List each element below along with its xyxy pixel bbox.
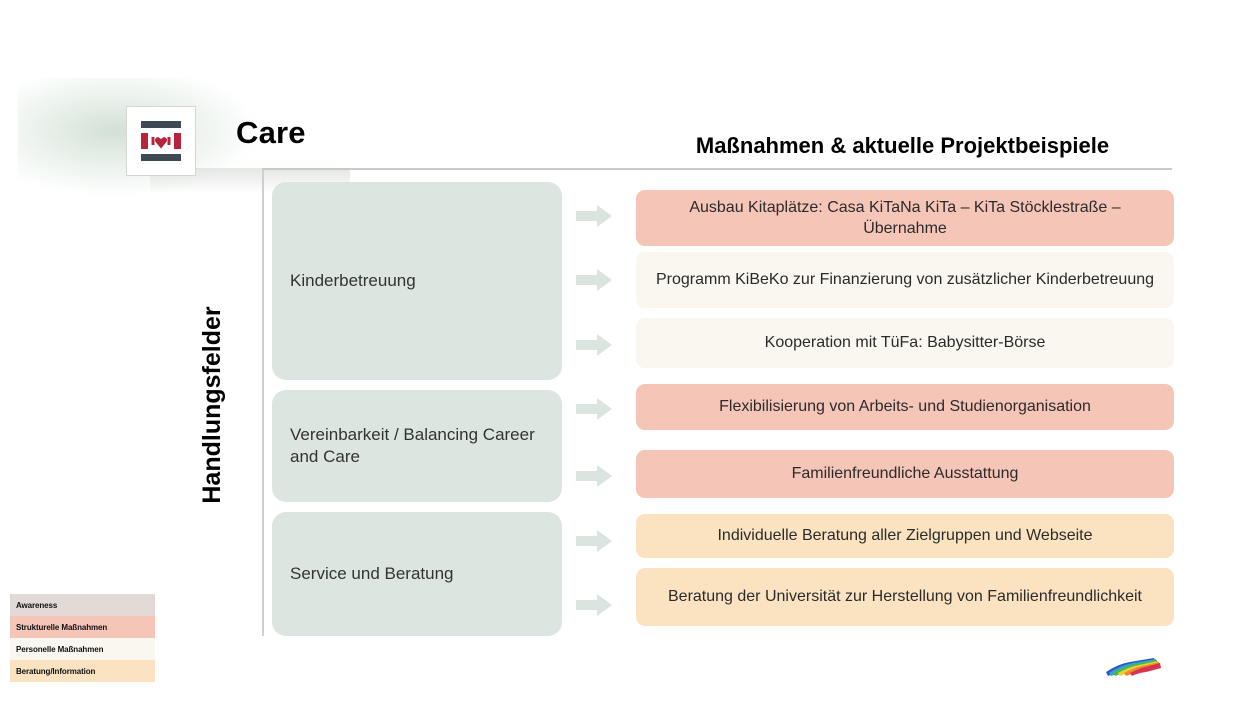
measure-label: Flexibilisierung von Arbeits- und Studie…	[719, 396, 1091, 417]
measure-label: Kooperation mit TüFa: Babysitter-Börse	[765, 332, 1046, 353]
section-title: Maßnahmen & aktuelle Projektbeispiele	[630, 134, 1175, 158]
measure-label: Familienfreundliche Ausstattung	[792, 463, 1019, 484]
axis-label-handlungsfelder: Handlungsfelder	[197, 260, 227, 550]
field-box-label: Service und Beratung	[290, 563, 454, 585]
field-box-vereinbarkeit[interactable]: Vereinbarkeit / Balancing Career and Car…	[272, 390, 562, 502]
legend-item-personelle-massnahmen: Personelle Maßnahmen	[10, 638, 155, 660]
measure-label: Programm KiBeKo zur Finanzierung von zus…	[656, 269, 1154, 290]
care-heart-banner-icon	[126, 106, 196, 176]
measure-box[interactable]: Flexibilisierung von Arbeits- und Studie…	[636, 384, 1174, 430]
legend-label: Beratung/Information	[16, 667, 95, 676]
measure-box[interactable]: Kooperation mit TüFa: Babysitter-Börse	[636, 318, 1174, 368]
measure-box[interactable]: Ausbau Kitaplätze: Casa KiTaNa KiTa – Ki…	[636, 190, 1174, 246]
field-box-label: Vereinbarkeit / Balancing Career and Car…	[290, 424, 544, 468]
measure-label: Individuelle Beratung aller Zielgruppen …	[717, 525, 1092, 546]
arrow-icon	[576, 530, 612, 552]
arrow-icon	[576, 594, 612, 616]
matrix-left-divider	[262, 170, 264, 636]
legend-label: Awareness	[16, 601, 57, 610]
matrix-top-divider	[262, 168, 1172, 170]
measure-box[interactable]: Familienfreundliche Ausstattung	[636, 450, 1174, 498]
matrix-grid: Kinderbetreuung Vereinbarkeit / Balancin…	[272, 182, 1174, 636]
arrow-icon	[576, 334, 612, 356]
legend-item-beratung-information: Beratung/Information	[10, 660, 155, 682]
measure-box[interactable]: Beratung der Universität zur Herstellung…	[636, 568, 1174, 626]
arrow-icon	[576, 269, 612, 291]
legend-item-awareness: Awareness	[10, 594, 155, 616]
measure-box[interactable]: Programm KiBeKo zur Finanzierung von zus…	[636, 252, 1174, 308]
arrow-icon	[576, 465, 612, 487]
arrow-icon	[576, 398, 612, 420]
measure-label: Ausbau Kitaplätze: Casa KiTaNa KiTa – Ki…	[652, 197, 1158, 239]
arrow-icon	[576, 205, 612, 227]
legend-label: Personelle Maßnahmen	[16, 645, 103, 654]
measure-label: Beratung der Universität zur Herstellung…	[668, 586, 1142, 607]
legend-item-strukturelle-massnahmen: Strukturelle Maßnahmen	[10, 616, 155, 638]
page-title: Care	[236, 117, 306, 148]
field-box-service-beratung[interactable]: Service und Beratung	[272, 512, 562, 636]
rainbow-swoosh-logo	[1104, 655, 1162, 681]
measure-box[interactable]: Individuelle Beratung aller Zielgruppen …	[636, 514, 1174, 558]
field-box-kinderbetreuung[interactable]: Kinderbetreuung	[272, 182, 562, 380]
field-box-label: Kinderbetreuung	[290, 270, 416, 292]
legend-label: Strukturelle Maßnahmen	[16, 623, 107, 632]
legend: Awareness Strukturelle Maßnahmen Persone…	[10, 594, 155, 682]
